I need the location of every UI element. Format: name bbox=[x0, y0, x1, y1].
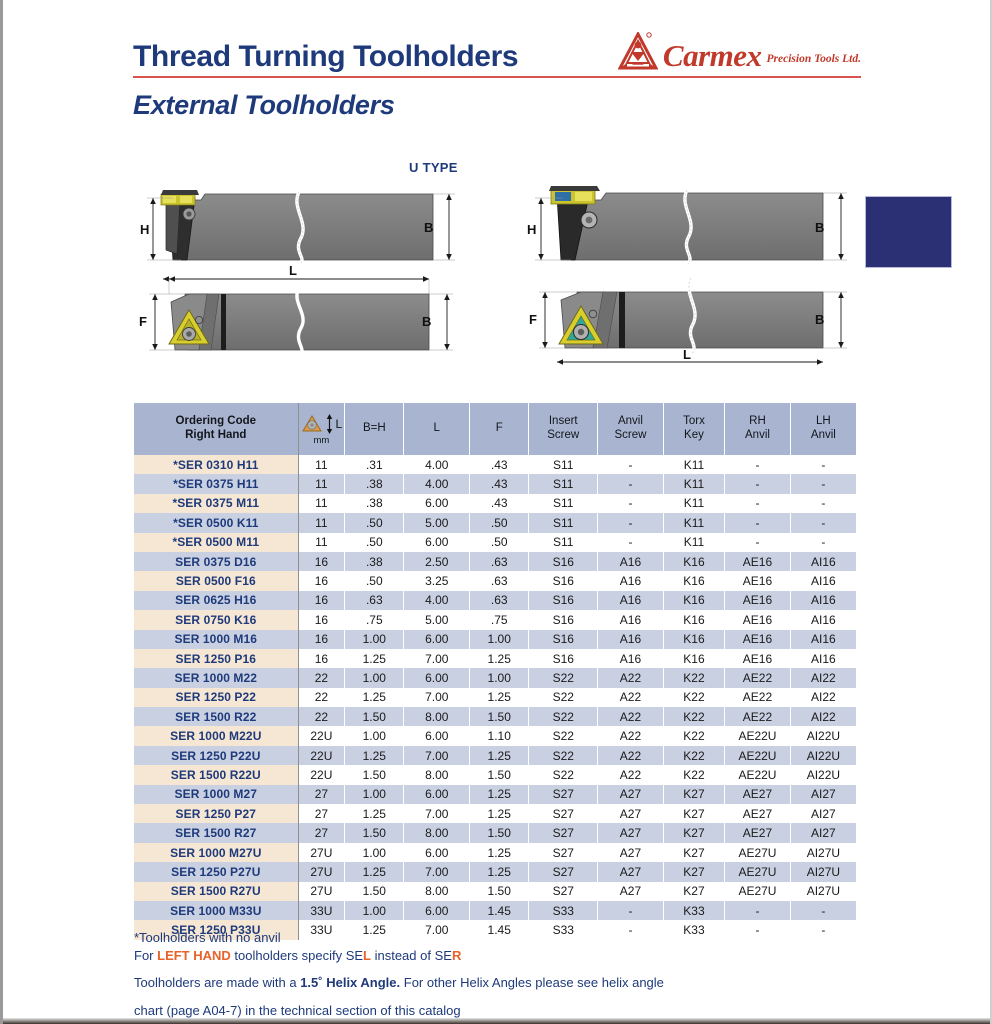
diagram-top-view-left: F B bbox=[133, 272, 471, 368]
header-line-1: Anvil bbox=[618, 415, 643, 427]
cell-insert-screw: S11 bbox=[529, 455, 598, 474]
cell-insert-length: 16 bbox=[298, 552, 345, 571]
cell-ordering-code: SER 1000 M22 bbox=[134, 668, 298, 687]
cell-torx-key: K33 bbox=[663, 901, 724, 920]
diagram-top-view-right: F B L bbox=[505, 272, 873, 368]
footnote-text: Toolholders are made with a bbox=[134, 975, 300, 990]
cell-anvil-screw: A22 bbox=[598, 688, 664, 707]
column-header-f: F bbox=[470, 403, 529, 455]
footnote-no-anvil: *Toolholders with no anvil bbox=[134, 930, 874, 947]
dim-label-f: F bbox=[529, 312, 537, 327]
dim-label-b: B bbox=[815, 312, 824, 327]
cell-ordering-code: SER 1500 R27U bbox=[134, 882, 298, 901]
cell-f: 1.50 bbox=[470, 765, 529, 784]
footnote-highlight-r: R bbox=[452, 948, 461, 963]
cell-f: 1.00 bbox=[470, 668, 529, 687]
table-row: SER 1000 M16161.006.001.00S16A16K16AE16A… bbox=[134, 630, 856, 649]
cell-l: 8.00 bbox=[404, 707, 470, 726]
cell-rh-anvil: - bbox=[725, 513, 791, 532]
cell-anvil-screw: A27 bbox=[598, 785, 664, 804]
cell-f: 1.50 bbox=[470, 707, 529, 726]
table-row: *SER 0375 M1111.386.00.43S11-K11-- bbox=[134, 494, 856, 513]
cell-bh: .50 bbox=[345, 571, 404, 590]
cell-insert-screw: S11 bbox=[529, 533, 598, 552]
table-row: SER 1000 M27U27U1.006.001.25S27A27K27AE2… bbox=[134, 843, 856, 862]
cell-lh-anvil: AI27U bbox=[790, 843, 856, 862]
column-header-insert-screw: Insert Screw bbox=[529, 403, 598, 455]
cell-lh-anvil: AI27U bbox=[790, 882, 856, 901]
cell-lh-anvil: AI27 bbox=[790, 804, 856, 823]
cell-insert-screw: S27 bbox=[529, 823, 598, 842]
cell-bh: 1.25 bbox=[345, 688, 404, 707]
specification-table: Ordering Code Right Hand bbox=[134, 403, 856, 940]
header-line-2: Right Hand bbox=[185, 429, 246, 441]
table-row: SER 1250 P27271.257.001.25S27A27K27AE27A… bbox=[134, 804, 856, 823]
cell-l: 6.00 bbox=[404, 901, 470, 920]
cell-ordering-code: SER 0625 H16 bbox=[134, 591, 298, 610]
cell-bh: 1.00 bbox=[345, 785, 404, 804]
table-row: SER 1000 M22U22U1.006.001.10S22A22K22AE2… bbox=[134, 726, 856, 745]
cell-lh-anvil: AI27 bbox=[790, 785, 856, 804]
cell-insert-length: 27 bbox=[298, 785, 345, 804]
cell-ordering-code: SER 1000 M22U bbox=[134, 726, 298, 745]
cell-anvil-screw: - bbox=[598, 474, 664, 493]
cell-l: 5.00 bbox=[404, 610, 470, 629]
cell-torx-key: K27 bbox=[663, 843, 724, 862]
cell-l: 6.00 bbox=[404, 494, 470, 513]
cell-insert-screw: S16 bbox=[529, 552, 598, 571]
header-line-2: Key bbox=[684, 429, 704, 441]
cell-rh-anvil: AE27U bbox=[725, 882, 791, 901]
cell-bh: 1.50 bbox=[345, 707, 404, 726]
cell-torx-key: K27 bbox=[663, 862, 724, 881]
cell-insert-length: 11 bbox=[298, 513, 345, 532]
cell-l: 6.00 bbox=[404, 630, 470, 649]
cell-bh: .50 bbox=[345, 533, 404, 552]
page-header: Thread Turning Toolholders Carmex Precis… bbox=[133, 26, 861, 121]
cell-lh-anvil: AI27 bbox=[790, 823, 856, 842]
page-subtitle: External Toolholders bbox=[133, 90, 861, 121]
cell-f: 1.00 bbox=[470, 630, 529, 649]
cell-bh: 1.00 bbox=[345, 668, 404, 687]
table-row: SER 1500 R22U22U1.508.001.50S22A22K22AE2… bbox=[134, 765, 856, 784]
cell-insert-length: 16 bbox=[298, 630, 345, 649]
cell-f: 1.25 bbox=[470, 862, 529, 881]
cell-ordering-code: SER 1000 M27U bbox=[134, 843, 298, 862]
cell-l: 8.00 bbox=[404, 823, 470, 842]
cell-rh-anvil: - bbox=[725, 901, 791, 920]
dim-label-b: B bbox=[422, 314, 431, 329]
column-header-lh-anvil: LH Anvil bbox=[790, 403, 856, 455]
cell-insert-length: 33U bbox=[298, 901, 345, 920]
cell-ordering-code: SER 1000 M27 bbox=[134, 785, 298, 804]
cell-l: 6.00 bbox=[404, 533, 470, 552]
cell-f: .50 bbox=[470, 513, 529, 532]
cell-rh-anvil: AE22U bbox=[725, 746, 791, 765]
cell-l: 5.00 bbox=[404, 513, 470, 532]
cell-f: .43 bbox=[470, 474, 529, 493]
table-row: SER 1250 P22221.257.001.25S22A22K22AE22A… bbox=[134, 688, 856, 707]
specification-table-wrap: Ordering Code Right Hand bbox=[134, 403, 856, 940]
table-row: SER 1000 M22221.006.001.00S22A22K22AE22A… bbox=[134, 668, 856, 687]
cell-lh-anvil: AI16 bbox=[790, 571, 856, 590]
cell-torx-key: K22 bbox=[663, 688, 724, 707]
dim-label-h: H bbox=[527, 222, 536, 237]
cell-torx-key: K22 bbox=[663, 746, 724, 765]
cell-insert-length: 22U bbox=[298, 765, 345, 784]
cell-f: 1.25 bbox=[470, 785, 529, 804]
header-divider bbox=[133, 76, 861, 78]
cell-l: 4.00 bbox=[404, 591, 470, 610]
footnote-text: For bbox=[134, 948, 157, 963]
table-header-row: Ordering Code Right Hand bbox=[134, 403, 856, 455]
cell-torx-key: K22 bbox=[663, 765, 724, 784]
cell-l: 4.00 bbox=[404, 455, 470, 474]
brand-name: Carmex bbox=[663, 41, 762, 70]
cell-ordering-code: SER 1500 R22U bbox=[134, 765, 298, 784]
table-row: SER 1500 R27271.508.001.50S27A27K27AE27A… bbox=[134, 823, 856, 842]
cell-bh: 1.00 bbox=[345, 726, 404, 745]
cell-lh-anvil: AI16 bbox=[790, 591, 856, 610]
column-header-l: L bbox=[404, 403, 470, 455]
cell-f: 1.50 bbox=[470, 823, 529, 842]
column-header-bh: B=H bbox=[345, 403, 404, 455]
cell-bh: 1.25 bbox=[345, 862, 404, 881]
table-row: SER 1000 M33U33U1.006.001.45S33-K33-- bbox=[134, 901, 856, 920]
cell-lh-anvil: - bbox=[790, 533, 856, 552]
cell-ordering-code: SER 0500 F16 bbox=[134, 571, 298, 590]
cell-l: 6.00 bbox=[404, 785, 470, 804]
cell-f: .50 bbox=[470, 533, 529, 552]
cell-rh-anvil: AE16 bbox=[725, 649, 791, 668]
cell-insert-length: 22 bbox=[298, 707, 345, 726]
cell-torx-key: K11 bbox=[663, 455, 724, 474]
cell-ordering-code: *SER 0375 H11 bbox=[134, 474, 298, 493]
header-line-2: Anvil bbox=[745, 429, 770, 441]
cell-anvil-screw: A27 bbox=[598, 882, 664, 901]
footnote-text: toolholders specify SE bbox=[231, 948, 363, 963]
cell-f: 1.25 bbox=[470, 804, 529, 823]
cell-bh: .31 bbox=[345, 455, 404, 474]
cell-lh-anvil: - bbox=[790, 494, 856, 513]
cell-ordering-code: SER 1250 P16 bbox=[134, 649, 298, 668]
cell-f: 1.45 bbox=[470, 901, 529, 920]
header-insert-length-label: L bbox=[336, 418, 343, 430]
cell-insert-length: 27 bbox=[298, 823, 345, 842]
cell-torx-key: K22 bbox=[663, 726, 724, 745]
cell-torx-key: K27 bbox=[663, 785, 724, 804]
cell-rh-anvil: AE27 bbox=[725, 785, 791, 804]
page-bottom-edge bbox=[3, 1018, 990, 1024]
cell-torx-key: K11 bbox=[663, 494, 724, 513]
cell-insert-screw: S33 bbox=[529, 901, 598, 920]
table-row: SER 1250 P16161.257.001.25S16A16K16AE16A… bbox=[134, 649, 856, 668]
header-unit-mm: mm bbox=[313, 436, 329, 446]
table-row: *SER 0375 H1111.384.00.43S11-K11-- bbox=[134, 474, 856, 493]
header-line-2: Screw bbox=[547, 429, 579, 441]
column-header-ordering-code: Ordering Code Right Hand bbox=[134, 403, 298, 455]
cell-insert-screw: S27 bbox=[529, 843, 598, 862]
cell-insert-length: 27 bbox=[298, 804, 345, 823]
cell-anvil-screw: A16 bbox=[598, 649, 664, 668]
table-row: SER 1250 P27U27U1.257.001.25S27A27K27AE2… bbox=[134, 862, 856, 881]
cell-f: .43 bbox=[470, 494, 529, 513]
cell-rh-anvil: AE27 bbox=[725, 804, 791, 823]
cell-torx-key: K11 bbox=[663, 533, 724, 552]
cell-insert-screw: S16 bbox=[529, 571, 598, 590]
cell-insert-screw: S22 bbox=[529, 765, 598, 784]
header-line-1: Insert bbox=[549, 415, 578, 427]
cell-l: 3.25 bbox=[404, 571, 470, 590]
cell-anvil-screw: A16 bbox=[598, 552, 664, 571]
cell-anvil-screw: - bbox=[598, 455, 664, 474]
cell-insert-screw: S22 bbox=[529, 726, 598, 745]
cell-lh-anvil: - bbox=[790, 513, 856, 532]
cell-anvil-screw: A16 bbox=[598, 571, 664, 590]
cell-anvil-screw: A22 bbox=[598, 726, 664, 745]
cell-insert-length: 11 bbox=[298, 474, 345, 493]
cell-insert-screw: S22 bbox=[529, 746, 598, 765]
cell-insert-length: 11 bbox=[298, 533, 345, 552]
cell-lh-anvil: - bbox=[790, 474, 856, 493]
cell-lh-anvil: AI22U bbox=[790, 746, 856, 765]
cell-torx-key: K16 bbox=[663, 630, 724, 649]
cell-insert-length: 11 bbox=[298, 455, 345, 474]
cell-bh: .63 bbox=[345, 591, 404, 610]
cell-bh: 1.25 bbox=[345, 649, 404, 668]
cell-f: 1.25 bbox=[470, 649, 529, 668]
cell-f: 1.50 bbox=[470, 882, 529, 901]
cell-rh-anvil: AE22 bbox=[725, 688, 791, 707]
cell-rh-anvil: - bbox=[725, 474, 791, 493]
cell-insert-length: 16 bbox=[298, 571, 345, 590]
cell-ordering-code: SER 1000 M16 bbox=[134, 630, 298, 649]
cell-anvil-screw: - bbox=[598, 901, 664, 920]
footnote-chart-reference: chart (page A04-7) in the technical sect… bbox=[134, 1003, 874, 1020]
cell-anvil-screw: A27 bbox=[598, 843, 664, 862]
column-header-rh-anvil: RH Anvil bbox=[725, 403, 791, 455]
cell-ordering-code: *SER 0375 M11 bbox=[134, 494, 298, 513]
dim-label-h: H bbox=[140, 222, 149, 237]
cell-torx-key: K16 bbox=[663, 649, 724, 668]
cell-bh: .75 bbox=[345, 610, 404, 629]
cell-f: 1.25 bbox=[470, 843, 529, 862]
cell-insert-screw: S16 bbox=[529, 610, 598, 629]
cell-insert-screw: S11 bbox=[529, 474, 598, 493]
cell-rh-anvil: - bbox=[725, 533, 791, 552]
carmex-triangle-icon bbox=[618, 32, 658, 70]
cell-insert-length: 22U bbox=[298, 746, 345, 765]
cell-torx-key: K27 bbox=[663, 882, 724, 901]
cell-l: 6.00 bbox=[404, 668, 470, 687]
cell-ordering-code: SER 1250 P22 bbox=[134, 688, 298, 707]
cell-l: 6.00 bbox=[404, 726, 470, 745]
cell-anvil-screw: A22 bbox=[598, 765, 664, 784]
dim-label-b: B bbox=[815, 220, 824, 235]
cell-rh-anvil: AE27U bbox=[725, 862, 791, 881]
cell-ordering-code: SER 1000 M33U bbox=[134, 901, 298, 920]
table-row: SER 0750 K1616.755.00.75S16A16K16AE16AI1… bbox=[134, 610, 856, 629]
dim-label-f: F bbox=[139, 314, 147, 329]
cell-bh: .38 bbox=[345, 474, 404, 493]
cell-torx-key: K16 bbox=[663, 610, 724, 629]
column-header-torx-key: Torx Key bbox=[663, 403, 724, 455]
cell-rh-anvil: AE16 bbox=[725, 571, 791, 590]
cell-lh-anvil: AI27U bbox=[790, 862, 856, 881]
cell-rh-anvil: AE27U bbox=[725, 843, 791, 862]
cell-anvil-screw: A16 bbox=[598, 610, 664, 629]
cell-rh-anvil: AE16 bbox=[725, 591, 791, 610]
toolholder-diagrams: U TYPE bbox=[133, 160, 873, 372]
cell-rh-anvil: AE16 bbox=[725, 610, 791, 629]
cell-lh-anvil: AI16 bbox=[790, 552, 856, 571]
header-line-1: Ordering Code bbox=[176, 415, 257, 427]
cell-ordering-code: SER 1250 P27 bbox=[134, 804, 298, 823]
cell-f: 1.25 bbox=[470, 688, 529, 707]
cell-f: .63 bbox=[470, 591, 529, 610]
cell-lh-anvil: AI22 bbox=[790, 707, 856, 726]
brand-tagline: Precision Tools Ltd. bbox=[767, 53, 861, 70]
cell-bh: 1.25 bbox=[345, 804, 404, 823]
cell-bh: .38 bbox=[345, 494, 404, 513]
footnote-highlight-l: L bbox=[363, 948, 371, 963]
cell-insert-length: 16 bbox=[298, 610, 345, 629]
table-row: SER 1250 P22U22U1.257.001.25S22A22K22AE2… bbox=[134, 746, 856, 765]
cell-bh: .50 bbox=[345, 513, 404, 532]
cell-bh: 1.25 bbox=[345, 746, 404, 765]
cell-torx-key: K11 bbox=[663, 513, 724, 532]
cell-torx-key: K27 bbox=[663, 823, 724, 842]
cell-lh-anvil: AI16 bbox=[790, 649, 856, 668]
cell-lh-anvil: AI22 bbox=[790, 668, 856, 687]
cell-anvil-screw: A16 bbox=[598, 630, 664, 649]
cell-l: 7.00 bbox=[404, 649, 470, 668]
cell-insert-length: 27U bbox=[298, 882, 345, 901]
table-row: *SER 0310 H1111.314.00.43S11-K11-- bbox=[134, 455, 856, 474]
cell-torx-key: K27 bbox=[663, 804, 724, 823]
table-row: SER 0375 D1616.382.50.63S16A16K16AE16AI1… bbox=[134, 552, 856, 571]
cell-insert-screw: S16 bbox=[529, 649, 598, 668]
cell-bh: 1.00 bbox=[345, 843, 404, 862]
cell-insert-length: 27U bbox=[298, 862, 345, 881]
cell-l: 7.00 bbox=[404, 862, 470, 881]
cell-l: 7.00 bbox=[404, 746, 470, 765]
cell-insert-length: 22 bbox=[298, 688, 345, 707]
cell-lh-anvil: AI22 bbox=[790, 688, 856, 707]
cell-l: 2.50 bbox=[404, 552, 470, 571]
footnote-highlight-left-hand: LEFT HAND bbox=[157, 948, 231, 963]
cell-torx-key: K16 bbox=[663, 591, 724, 610]
header-line-2: Screw bbox=[614, 429, 646, 441]
table-row: SER 1500 R22221.508.001.50S22A22K22AE22A… bbox=[134, 707, 856, 726]
cell-ordering-code: SER 1500 R27 bbox=[134, 823, 298, 842]
cell-rh-anvil: AE22U bbox=[725, 765, 791, 784]
cell-insert-screw: S22 bbox=[529, 668, 598, 687]
cell-ordering-code: *SER 0500 K11 bbox=[134, 513, 298, 532]
cell-l: 8.00 bbox=[404, 765, 470, 784]
cell-rh-anvil: - bbox=[725, 494, 791, 513]
u-type-label: U TYPE bbox=[409, 160, 458, 175]
cell-l: 7.00 bbox=[404, 688, 470, 707]
cell-lh-anvil: AI22U bbox=[790, 726, 856, 745]
cell-f: 1.25 bbox=[470, 746, 529, 765]
cell-ordering-code: SER 0750 K16 bbox=[134, 610, 298, 629]
footnote-text: For other Helix Angles please see helix … bbox=[400, 975, 664, 990]
cell-anvil-screw: A22 bbox=[598, 668, 664, 687]
cell-l: 6.00 bbox=[404, 843, 470, 862]
cell-torx-key: K11 bbox=[663, 474, 724, 493]
cell-torx-key: K16 bbox=[663, 571, 724, 590]
cell-insert-screw: S27 bbox=[529, 862, 598, 881]
cell-insert-length: 11 bbox=[298, 494, 345, 513]
cell-rh-anvil: AE22U bbox=[725, 726, 791, 745]
cell-lh-anvil: - bbox=[790, 455, 856, 474]
insert-triangle-icon bbox=[301, 414, 323, 434]
cell-anvil-screw: A27 bbox=[598, 804, 664, 823]
cell-f: .63 bbox=[470, 552, 529, 571]
footnote-left-hand: For LEFT HAND toolholders specify SEL in… bbox=[134, 948, 874, 965]
carmex-logo: Carmex Precision Tools Ltd. bbox=[618, 32, 861, 72]
column-header-anvil-screw: Anvil Screw bbox=[598, 403, 664, 455]
cell-torx-key: K16 bbox=[663, 552, 724, 571]
cell-ordering-code: SER 0375 D16 bbox=[134, 552, 298, 571]
footnote-helix-value: 1.5˚ Helix Angle. bbox=[300, 975, 400, 990]
cell-torx-key: K22 bbox=[663, 707, 724, 726]
table-row: SER 1000 M27271.006.001.25S27A27K27AE27A… bbox=[134, 785, 856, 804]
footnote-helix-angle: Toolholders are made with a 1.5˚ Helix A… bbox=[134, 975, 874, 992]
cell-anvil-screw: - bbox=[598, 494, 664, 513]
cell-anvil-screw: A27 bbox=[598, 862, 664, 881]
cell-insert-length: 22 bbox=[298, 668, 345, 687]
specification-table-body: *SER 0310 H1111.314.00.43S11-K11--*SER 0… bbox=[134, 455, 856, 940]
cell-bh: .38 bbox=[345, 552, 404, 571]
header-line-2: Anvil bbox=[811, 429, 836, 441]
cell-rh-anvil: - bbox=[725, 455, 791, 474]
cell-bh: 1.50 bbox=[345, 882, 404, 901]
cell-lh-anvil: AI16 bbox=[790, 630, 856, 649]
table-row: SER 1500 R27U27U1.508.001.50S27A27K27AE2… bbox=[134, 882, 856, 901]
cell-l: 4.00 bbox=[404, 474, 470, 493]
cell-insert-screw: S27 bbox=[529, 882, 598, 901]
cell-insert-length: 27U bbox=[298, 843, 345, 862]
footnotes: *Toolholders with no anvil For LEFT HAND… bbox=[134, 930, 874, 1020]
cell-rh-anvil: AE27 bbox=[725, 823, 791, 842]
cell-lh-anvil: - bbox=[790, 901, 856, 920]
cell-f: .63 bbox=[470, 571, 529, 590]
cell-ordering-code: SER 1250 P22U bbox=[134, 746, 298, 765]
cell-ordering-code: SER 1500 R22 bbox=[134, 707, 298, 726]
cell-insert-screw: S11 bbox=[529, 494, 598, 513]
cell-bh: 1.00 bbox=[345, 630, 404, 649]
cell-insert-length: 16 bbox=[298, 649, 345, 668]
dim-label-l: L bbox=[683, 347, 691, 362]
header-line-1: RH bbox=[749, 415, 766, 427]
cell-insert-screw: S16 bbox=[529, 591, 598, 610]
cell-bh: 1.50 bbox=[345, 823, 404, 842]
cell-anvil-screw: - bbox=[598, 513, 664, 532]
cell-rh-anvil: AE16 bbox=[725, 630, 791, 649]
cell-f: .43 bbox=[470, 455, 529, 474]
cell-anvil-screw: A22 bbox=[598, 746, 664, 765]
cell-insert-screw: S22 bbox=[529, 707, 598, 726]
cell-insert-length: 16 bbox=[298, 591, 345, 610]
dim-label-b: B bbox=[424, 220, 433, 235]
cell-ordering-code: *SER 0310 H11 bbox=[134, 455, 298, 474]
table-row: SER 0625 H1616.634.00.63S16A16K16AE16AI1… bbox=[134, 591, 856, 610]
cell-insert-length: 22U bbox=[298, 726, 345, 745]
header-line-1: Torx bbox=[683, 415, 705, 427]
column-header-insert-length: L mm bbox=[298, 403, 345, 455]
